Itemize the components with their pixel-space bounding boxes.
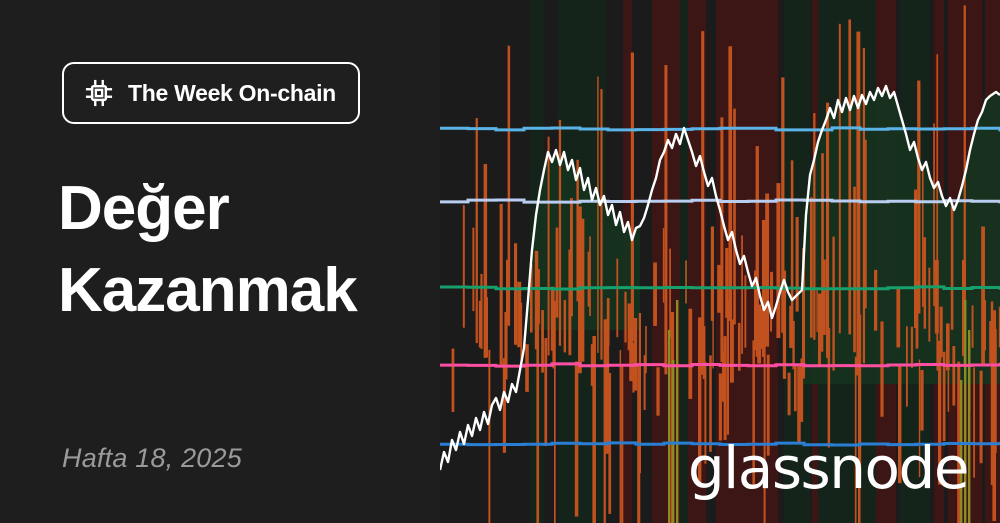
chart-spike [980, 371, 983, 464]
chart-spike [741, 235, 743, 354]
chart-spike [581, 219, 584, 362]
chart-spike [631, 53, 634, 342]
chart-spike [924, 237, 926, 328]
chart-spike [544, 338, 547, 446]
chart-spike [952, 346, 955, 405]
chart-spike [541, 310, 544, 373]
chart-spike [559, 120, 561, 346]
chart-spike [880, 321, 883, 416]
chart-spike [776, 183, 780, 338]
chart-spike [936, 54, 938, 370]
chart-spike [920, 370, 923, 430]
chart-spike [720, 117, 723, 362]
chart-spike [639, 313, 641, 473]
page-title-line-2: Kazanmak [58, 250, 458, 332]
chart-spike [791, 160, 794, 330]
chart-spike [624, 292, 626, 343]
level-lightblue [440, 128, 1000, 130]
chart-spike [712, 296, 713, 368]
chart-spike [968, 330, 970, 523]
chart-spike [570, 198, 573, 316]
chart-spike [813, 113, 815, 340]
level-teal [440, 287, 1000, 289]
chart-spike [616, 259, 618, 338]
chart-spike [972, 305, 974, 347]
chart-spike [896, 287, 900, 347]
chart-spike [848, 19, 851, 334]
chart-spike [917, 81, 920, 314]
chart-spike [653, 262, 657, 325]
chart-spike [663, 228, 664, 302]
chart-spike [592, 336, 596, 523]
chart-spike [575, 362, 579, 517]
chart-spike [520, 303, 522, 361]
chart-spike [607, 298, 610, 346]
chart-spike [463, 205, 465, 328]
badge-label: The Week On-chain [128, 80, 336, 107]
chart-spike [668, 330, 670, 523]
chart-spike [788, 373, 791, 416]
chart-spike [989, 321, 991, 363]
level-lavender [440, 200, 1000, 202]
chart-spike [664, 65, 667, 374]
chart-spike [772, 272, 774, 314]
chart-spike [514, 243, 517, 345]
chart-spike [730, 319, 734, 382]
chart-spike [508, 46, 511, 326]
chart-spike [536, 316, 539, 523]
chart-spike [810, 197, 813, 337]
chart-spike [853, 187, 856, 353]
chart-spike [685, 260, 687, 303]
page-title-line-1: Değer [58, 168, 458, 250]
chart-spike [500, 204, 503, 367]
chart-spike [826, 103, 829, 358]
glassnode-logo: glassnode [688, 439, 968, 497]
left-panel: The Week On-chain Değer Kazanmak Hafta 1… [0, 0, 440, 523]
chart-spike [548, 137, 550, 356]
chart-spike [948, 332, 950, 412]
chart-spike [832, 237, 834, 371]
chart-spike [733, 109, 736, 325]
page-title: Değer Kazanmak [58, 168, 458, 332]
chart-spike [797, 364, 801, 443]
chart-spike [480, 274, 482, 349]
chart-spike [759, 308, 763, 349]
chart-spike [452, 349, 455, 412]
chart-spike [738, 323, 741, 371]
chart-spike [719, 373, 722, 440]
chart-spike [911, 327, 913, 368]
chart-spike [676, 300, 678, 523]
chart-spike [933, 123, 935, 306]
chart-spike [672, 360, 674, 523]
issue-label: Hafta 18, 2025 [62, 443, 242, 474]
chart-spike [525, 344, 529, 392]
chart-spike [973, 367, 975, 477]
chart-spike [588, 252, 590, 307]
chart-spike [656, 367, 659, 415]
chart-spike [488, 350, 490, 523]
chart-spike [792, 321, 794, 369]
chart-spike [688, 309, 692, 399]
chart-spike [701, 31, 704, 375]
cover-image: The Week On-chain Değer Kazanmak Hafta 1… [0, 0, 1000, 523]
chart-spike [839, 24, 841, 334]
chart-spike [669, 249, 671, 338]
chart-spike [476, 118, 478, 343]
chart-spike [864, 140, 866, 309]
level-pink [440, 364, 1000, 366]
chart-spike [597, 76, 598, 352]
chart-spike [538, 269, 540, 324]
chip-icon [84, 78, 114, 108]
chart-spike [816, 290, 817, 332]
chart-spike [994, 329, 997, 453]
chart-spike [564, 300, 566, 352]
chart-spike [823, 260, 826, 335]
chart-spike [928, 268, 930, 342]
chart-spike [828, 328, 831, 448]
chart-spike [634, 318, 637, 391]
chart-spike [940, 307, 943, 358]
chart-spike [724, 336, 727, 440]
chart-spike [472, 228, 474, 311]
chart-spike [765, 194, 769, 347]
chart-spike [728, 46, 732, 321]
chart-spike [794, 364, 797, 412]
week-on-chain-badge[interactable]: The Week On-chain [62, 62, 360, 124]
chart-spike [589, 236, 591, 316]
chart-spike [554, 301, 556, 523]
chart-spike [874, 270, 877, 331]
chart-spike [951, 206, 954, 329]
chart-spike [983, 300, 986, 350]
chart-spike [485, 297, 488, 357]
chart-spike [620, 350, 622, 523]
chart-spike [556, 228, 559, 318]
